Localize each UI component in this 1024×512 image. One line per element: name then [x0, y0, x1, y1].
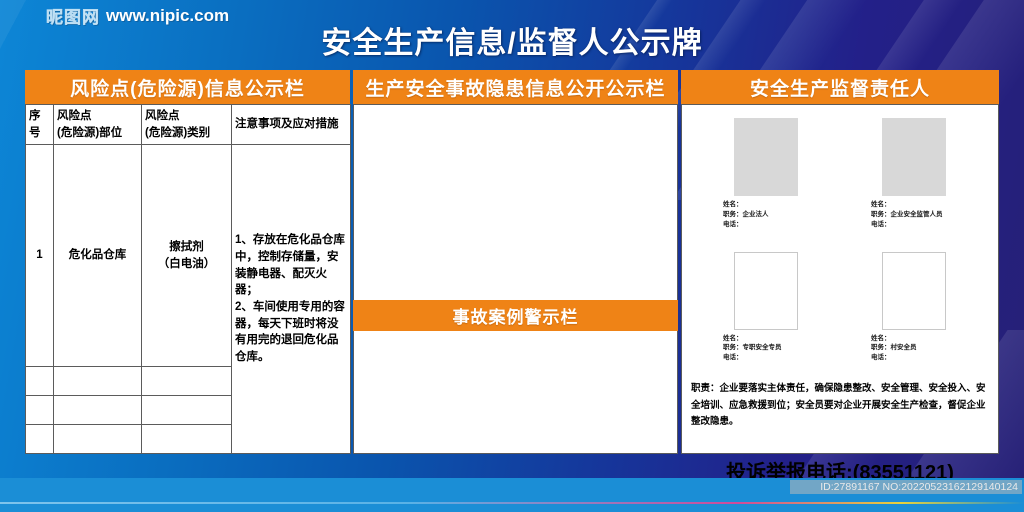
supervisor-name-line: 姓名： [871, 334, 981, 344]
label-role: 职务： [723, 211, 743, 218]
supervisor-phone-line: 电话： [723, 220, 833, 230]
header-risk-points: 风险点(危险源)信息公示栏 [25, 70, 350, 104]
supervisor-phone-line: 电话： [871, 220, 981, 230]
supervisor-name-line: 姓名： [723, 334, 833, 344]
supervisor-details: 姓名： 职务：企业安全监管人员 电话： [847, 200, 981, 229]
label-phone: 电话： [871, 221, 891, 228]
value-role: 专职安全专员 [743, 344, 782, 351]
supervisor-card: 姓名： 职务：村安全员 电话： [847, 252, 981, 380]
avatar [734, 118, 798, 196]
supervisor-details: 姓名： 职务：村安全员 电话： [847, 334, 981, 363]
cell-no [26, 396, 54, 425]
cell-no [26, 424, 54, 453]
supervisor-details: 姓名： 职务：企业法人 电话： [699, 200, 833, 229]
header-hazard-info: 生产安全事故隐患信息公开公示栏 [353, 70, 678, 104]
label-name: 姓名： [871, 201, 891, 208]
supervisor-card: 姓名： 职务：企业安全监管人员 电话： [847, 118, 981, 246]
footer-base-stripe [0, 504, 1024, 512]
supervisor-details: 姓名： 职务：专职安全专员 电话： [699, 334, 833, 363]
column-header-type: 风险点 (危险源)类别 [142, 105, 232, 145]
cell-no [26, 367, 54, 396]
supervisor-name-line: 姓名： [871, 200, 981, 210]
supervisor-role-line: 职务：企业安全监管人员 [871, 210, 981, 220]
cell-part [54, 396, 142, 425]
supervisor-name-line: 姓名： [723, 200, 833, 210]
label-role: 职务： [871, 211, 891, 218]
column-header-part: 风险点 (危险源)部位 [54, 105, 142, 145]
watermark: 昵图网 www.nipic.com [46, 3, 229, 28]
avatar [882, 252, 946, 330]
case-warning-banner: 事故案例警示栏 [353, 300, 678, 331]
value-role: 企业安全监管人员 [891, 211, 943, 218]
supervisor-grid: 姓名： 职务：企业法人 电话： 姓名： 职务：企业安全监管人员 电话： 姓名： … [681, 104, 999, 379]
table-header-row: 序号 风险点 (危险源)部位 风险点 (危险源)类别 注意事项及应对措施 [26, 105, 351, 145]
value-role: 村安全员 [891, 344, 917, 351]
cell-part [54, 367, 142, 396]
label-phone: 电话： [871, 354, 891, 361]
supervisor-role-line: 职务：专职安全专员 [723, 343, 833, 353]
watermark-url: www.nipic.com [106, 6, 229, 26]
image-id-text: ID:27891167 NO:20220523162129140124 [790, 480, 1022, 494]
supervisor-role-line: 职务：村安全员 [871, 343, 981, 353]
cell-no: 1 [26, 145, 54, 367]
supervisor-card: 姓名： 职务：企业法人 电话： [699, 118, 833, 246]
panel-hazard-info [353, 104, 678, 454]
label-name: 姓名： [723, 335, 743, 342]
cell-type [142, 424, 232, 453]
column-header-no: 序号 [26, 105, 54, 145]
supervisor-card: 姓名： 职务：专职安全专员 电话： [699, 252, 833, 380]
label-phone: 电话： [723, 354, 743, 361]
avatar [882, 118, 946, 196]
supervisor-role-line: 职务：企业法人 [723, 210, 833, 220]
cell-type [142, 396, 232, 425]
cell-notes: 1、存放在危化品仓库中，控制存储量，安装静电器、配灭火器； 2、车间使用专用的容… [232, 145, 351, 454]
label-role: 职务： [871, 344, 891, 351]
avatar [734, 252, 798, 330]
column-header-notes: 注意事项及应对措施 [232, 105, 351, 145]
cell-part: 危化品仓库 [54, 145, 142, 367]
label-role: 职务： [723, 344, 743, 351]
duty-paragraph: 职责：企业要落实主体责任，确保隐患整改、安全管理、安全投入、安全培训、应急救援到… [691, 381, 991, 431]
label-name: 姓名： [871, 335, 891, 342]
watermark-logo: 昵图网 [46, 3, 100, 28]
label-phone: 电话： [723, 221, 743, 228]
cell-part [54, 424, 142, 453]
cell-type [142, 367, 232, 396]
header-supervisors: 安全生产监督责任人 [681, 70, 999, 104]
risk-point-table: 序号 风险点 (危险源)部位 风险点 (危险源)类别 注意事项及应对措施 1 危… [25, 104, 351, 454]
value-role: 企业法人 [743, 211, 769, 218]
supervisor-phone-line: 电话： [723, 353, 833, 363]
label-name: 姓名： [723, 201, 743, 208]
table-row: 1 危化品仓库 擦拭剂 （白电油） 1、存放在危化品仓库中，控制存储量，安装静电… [26, 145, 351, 367]
supervisor-phone-line: 电话： [871, 353, 981, 363]
cell-type: 擦拭剂 （白电油） [142, 145, 232, 367]
